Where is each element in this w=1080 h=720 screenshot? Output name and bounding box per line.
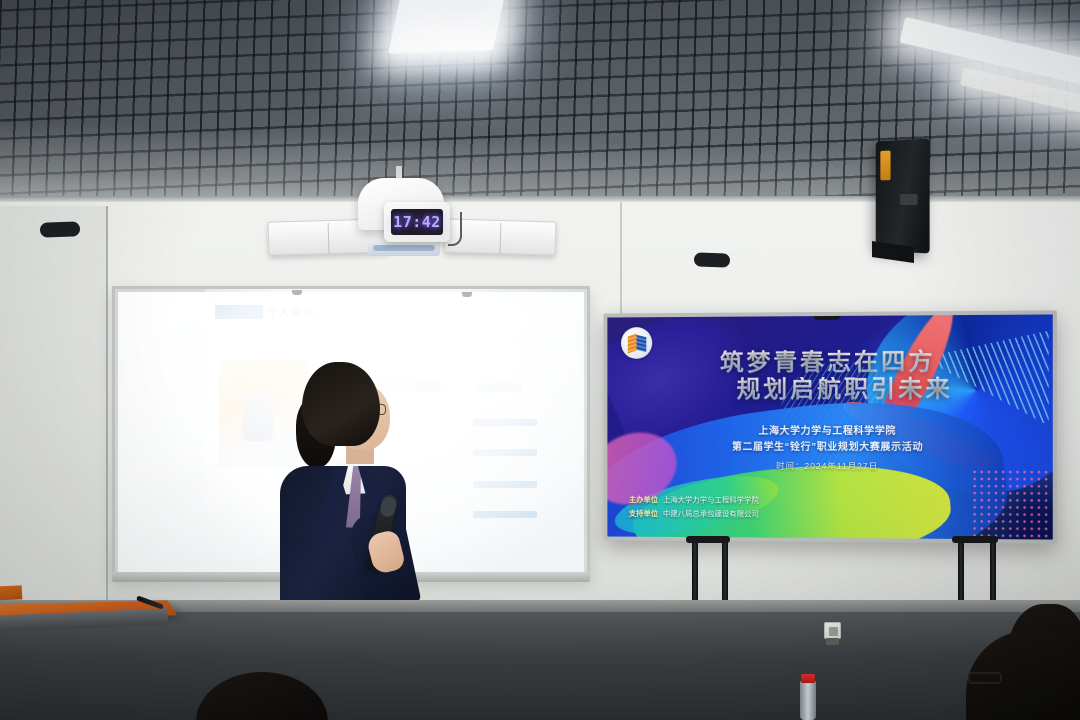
led-text-layer: 筑梦青春志在四方 规划启航职引未来 上海大学力学与工程科学学院 第二届学生“铨行… (607, 314, 1052, 539)
projector-cable (448, 212, 462, 246)
led-title-line-1: 筑梦青春志在四方 (607, 349, 1052, 378)
floor (0, 612, 1080, 720)
organizer-row: 支持单位 中建八局总承包建设有限公司 (629, 507, 759, 522)
left-wall-panel (0, 206, 108, 606)
wall-seam-left (106, 206, 108, 606)
photo-scene: 17:42 个人简历 (0, 0, 1080, 720)
desk-side-block (0, 585, 22, 600)
led-title-line-2: 规划启航职引未来 (640, 376, 1052, 404)
led-subtitle-line-1: 上海大学力学与工程科学学院 (607, 424, 1052, 440)
screen-stand-top-bracket-2 (952, 536, 998, 543)
projector-assembly: 17:42 (268, 172, 554, 268)
led-event-date: 时间：2024年11月27日 (607, 460, 1052, 473)
led-subtitle: 上海大学力学与工程科学学院 第二届学生“铨行”职业规划大赛展示活动 (607, 424, 1052, 455)
led-subtitle-line-2: 第二届学生“铨行”职业规划大赛展示活动 (607, 439, 1052, 455)
water-bottle (800, 680, 816, 720)
led-screen-canvas: 筑梦青春志在四方 规划启航职引未来 上海大学力学与工程科学学院 第二届学生“铨行… (607, 314, 1052, 539)
ceiling-light-glow-1 (400, 28, 499, 50)
speaker-brand-icon (900, 194, 918, 205)
organizer-value: 上海大学力学与工程科学学院 (663, 493, 759, 508)
projector-base-panel (368, 240, 440, 256)
jbl-wall-speaker (876, 139, 930, 254)
digital-clock: 17:42 (384, 202, 450, 242)
wall-seam-right (620, 196, 622, 326)
bottle-cap (801, 674, 815, 683)
outlet-plug (826, 638, 839, 645)
led-main-title: 筑梦青春志在四方 规划启航职引未来 (607, 349, 1052, 404)
whiteboard-clip-1 (292, 290, 302, 295)
organizer-key: 主办单位 (629, 493, 658, 507)
whiteboard-clip-2 (462, 292, 472, 297)
screen-stand-top-bracket-1 (686, 536, 730, 543)
presenter-hair (302, 362, 380, 446)
screen-notch (814, 316, 840, 320)
organizer-key: 支持单位 (629, 507, 658, 521)
clock-display-panel: 17:42 (391, 209, 443, 235)
organizer-row: 主办单位 上海大学力学与工程科学学院 (629, 493, 759, 508)
led-organizer-block: 主办单位 上海大学力学与工程科学学院 支持单位 中建八局总承包建设有限公司 (629, 493, 759, 522)
speaker-label-icon (880, 151, 890, 181)
power-outlet-icon (824, 622, 841, 639)
wall-sensor-icon (40, 221, 80, 237)
clock-time-text: 17:42 (393, 213, 441, 231)
audience-eyeglasses-icon (968, 672, 1002, 684)
organizer-value: 中建八局总承包建设有限公司 (663, 507, 759, 522)
presenter-figure (258, 362, 418, 622)
wall-camera-icon (694, 252, 730, 267)
emblem-mark (627, 335, 646, 352)
led-display-screen: 筑梦青春志在四方 规划启航职引未来 上海大学力学与工程科学学院 第二届学生“铨行… (604, 310, 1057, 543)
